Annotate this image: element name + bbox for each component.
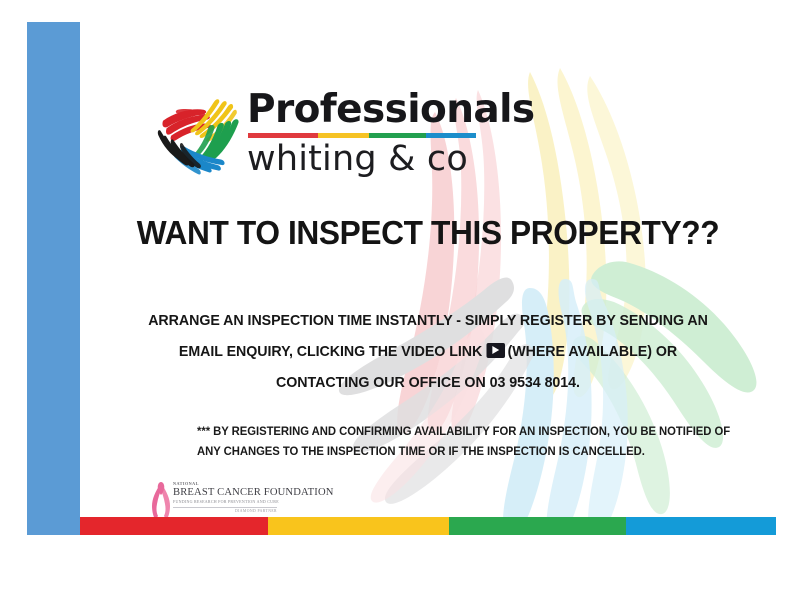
logo-rule-blue [426, 133, 476, 138]
logo-rule-green [369, 133, 426, 138]
bottom-bar-red [80, 517, 268, 535]
nbcf-divider [173, 507, 277, 508]
slide-sidebar-band [27, 22, 80, 535]
bottom-bar-blue [626, 517, 776, 535]
slide-content-area: Professionals whiting & co WANT TO INSPE… [80, 22, 776, 535]
logo-rule-red [248, 133, 318, 138]
professionals-brand-logo: Professionals whiting & co [152, 74, 492, 184]
nbcf-tagline-text: FUNDING RESEARCH FOR PREVENTION AND CURE [173, 499, 285, 505]
disclaimer-line-2: ANY CHANGES TO THE INSPECTION TIME OR IF… [197, 442, 776, 462]
nbcf-partner-text: DIAMOND PARTNER [173, 509, 277, 514]
bottom-bar-yellow [268, 517, 449, 535]
nbcf-name-text: BREAST CANCER FOUNDATION [173, 487, 285, 499]
logo-line-whiting-and-co: whiting & co [247, 138, 492, 179]
bottom-color-bar [80, 517, 776, 535]
disclaimer-line-1: *** BY REGISTERING AND CONFIRMING AVAILA… [197, 422, 776, 442]
pink-ribbon-icon [149, 479, 173, 521]
screenshot-canvas: Professionals whiting & co WANT TO INSPE… [0, 0, 800, 600]
instructions-block: ARRANGE AN INSPECTION TIME INSTANTLY - S… [80, 306, 776, 399]
page-title: WANT TO INSPECT THIS PROPERTY?? [94, 214, 762, 252]
nbcf-wordmark: NATIONAL BREAST CANCER FOUNDATION FUNDIN… [173, 481, 285, 514]
logo-line-professionals: Professionals [247, 74, 492, 129]
professionals-star-icon [152, 84, 244, 176]
instructions-line-2-before-icon: EMAIL ENQUIRY, CLICKING THE VIDEO LINK [179, 344, 482, 360]
professionals-wordmark: Professionals whiting & co [247, 74, 492, 184]
logo-color-rule [248, 133, 476, 138]
instructions-line-2-after-icon: (WHERE AVAILABLE) OR [508, 344, 677, 360]
instructions-line-3: CONTACTING OUR OFFICE ON 03 9534 8014. [89, 368, 768, 399]
presentation-slide: Professionals whiting & co WANT TO INSPE… [27, 22, 776, 535]
bottom-bar-green [449, 517, 626, 535]
disclaimer-block: *** BY REGISTERING AND CONFIRMING AVAILA… [197, 422, 776, 462]
logo-rule-yellow [318, 133, 369, 138]
instructions-line-2: EMAIL ENQUIRY, CLICKING THE VIDEO LINK(W… [89, 337, 768, 368]
instructions-line-1: ARRANGE AN INSPECTION TIME INSTANTLY - S… [89, 306, 768, 337]
video-play-icon[interactable] [486, 343, 505, 358]
